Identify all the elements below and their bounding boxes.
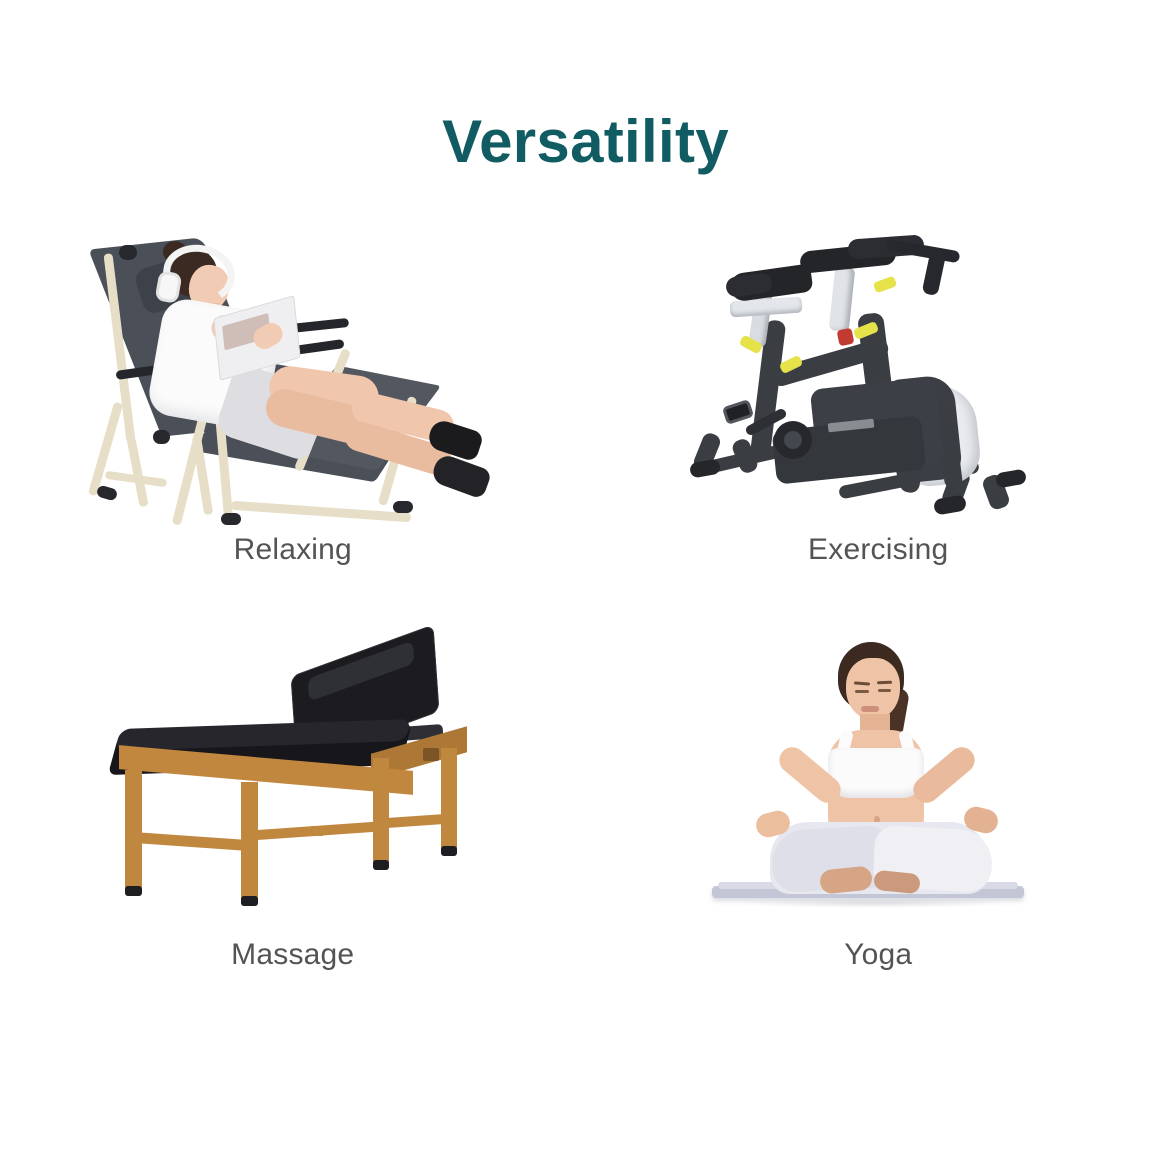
versatility-page: Versatility bbox=[0, 0, 1171, 1171]
chair-frame-rail bbox=[126, 437, 148, 507]
caption-exercising: Exercising bbox=[808, 533, 948, 567]
chair-frame-cap bbox=[221, 513, 241, 525]
page-title: Versatility bbox=[0, 112, 1171, 172]
bike-foot-cap bbox=[933, 494, 967, 515]
bike-foot-cap bbox=[995, 469, 1027, 489]
grid-item-yoga[interactable]: Yoga bbox=[586, 630, 1171, 1035]
caption-relaxing: Relaxing bbox=[234, 533, 352, 567]
person-eyebrow bbox=[877, 681, 892, 685]
grid-item-relaxing[interactable]: Relaxing bbox=[0, 225, 586, 630]
table-foot-cap bbox=[125, 886, 142, 896]
table-leg bbox=[441, 748, 457, 852]
table-foot-cap bbox=[373, 860, 389, 870]
chair-frame-cap bbox=[119, 245, 137, 260]
bike-handlebar-post bbox=[829, 266, 856, 332]
table-stretcher-rail bbox=[131, 832, 251, 851]
table-stretcher-rail bbox=[311, 826, 323, 836]
person-eye bbox=[855, 690, 869, 693]
massage-figure bbox=[93, 630, 493, 930]
lounge-chair-image bbox=[93, 225, 493, 525]
table-foot-cap bbox=[241, 896, 258, 906]
bike-emergency-brake-knob bbox=[837, 328, 855, 347]
yoga-figure bbox=[678, 630, 1078, 930]
massage-table-image bbox=[93, 630, 493, 930]
caption-massage: Massage bbox=[231, 938, 354, 972]
sports-bra bbox=[828, 748, 924, 798]
person-shoe bbox=[429, 452, 492, 499]
grid-item-exercising[interactable]: Exercising bbox=[586, 225, 1171, 630]
table-foot-cap bbox=[441, 846, 457, 856]
chair-frame-cap bbox=[393, 501, 413, 513]
yoga-pose-image bbox=[678, 630, 1078, 930]
caption-yoga: Yoga bbox=[844, 938, 912, 972]
chair-frame-rail bbox=[88, 402, 123, 497]
relaxing-figure bbox=[93, 225, 493, 525]
bike-adjustment-knob bbox=[873, 276, 897, 294]
exercising-figure bbox=[678, 225, 1078, 525]
chair-frame-cap bbox=[95, 484, 118, 501]
bike-pedal bbox=[722, 399, 754, 425]
person-lips bbox=[861, 706, 879, 712]
table-brand-plate bbox=[423, 748, 439, 761]
table-leg bbox=[373, 758, 389, 866]
versatility-grid: Relaxing bbox=[0, 225, 1171, 1035]
chair-frame-cap bbox=[153, 430, 170, 444]
grid-item-massage[interactable]: Massage bbox=[0, 630, 586, 1035]
person-eye bbox=[878, 689, 891, 692]
figure-shadow bbox=[738, 898, 1008, 908]
spin-bike-image bbox=[678, 225, 1078, 525]
